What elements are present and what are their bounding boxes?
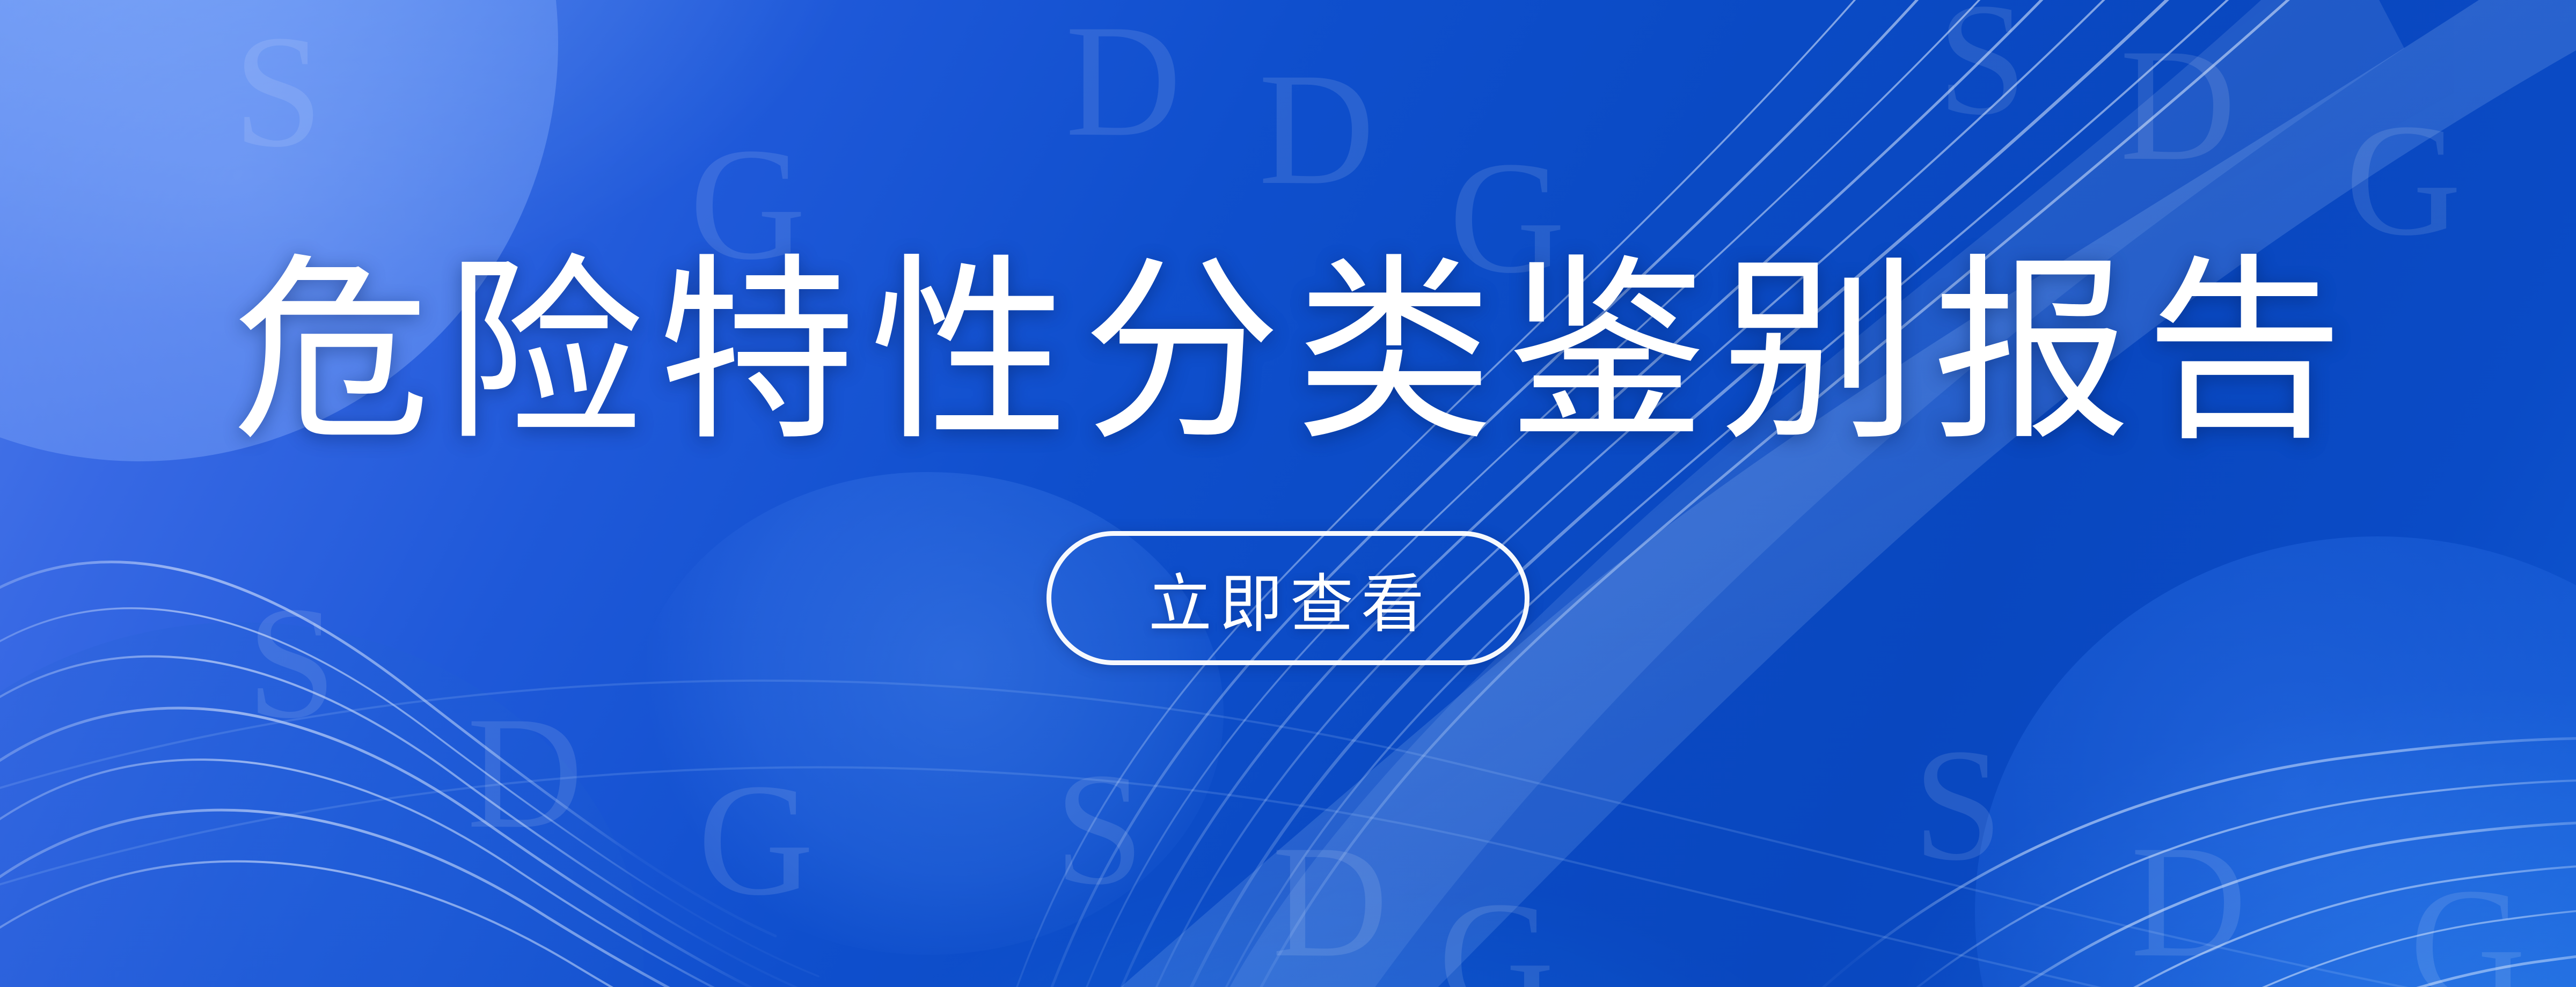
page-title: 危险特性分类鉴别报告 [218,253,2358,452]
hero-banner: SDGDGDGSSDGSDGSDG 危险特性分类鉴别报告 立即查看 [0,0,2576,987]
banner-content: 危险特性分类鉴别报告 立即查看 [0,0,2576,987]
cta-container: 立即查看 [0,531,2576,665]
view-now-button[interactable]: 立即查看 [1046,531,1529,665]
